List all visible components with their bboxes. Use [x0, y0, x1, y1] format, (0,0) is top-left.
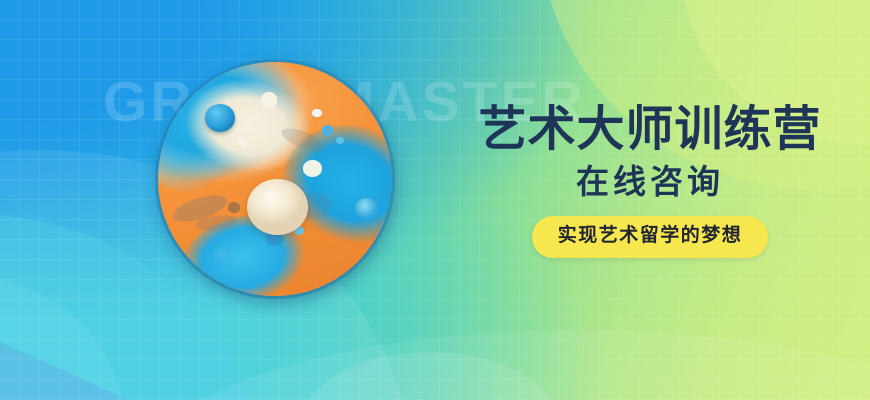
copy-block: 艺术大师训练营 在线咨询 实现艺术留学的梦想 [470, 104, 830, 258]
art-cell-5 [336, 137, 344, 144]
art-cell-13 [214, 249, 228, 261]
cta-button[interactable]: 实现艺术留学的梦想 [532, 216, 769, 258]
artwork-image [158, 62, 392, 296]
art-cell-12 [355, 198, 378, 219]
banner-subtitle: 在线咨询 [470, 164, 830, 200]
banner-title: 艺术大师训练营 [470, 104, 830, 156]
promo-banner: GRANDMASTER [0, 0, 870, 400]
art-cell-14 [238, 139, 247, 147]
artwork-circle [158, 62, 392, 296]
art-cell-2 [261, 92, 277, 107]
art-center-cream-blob [247, 179, 308, 235]
art-cell-11 [228, 202, 240, 212]
art-cell-6 [303, 160, 322, 176]
art-cell-3 [312, 109, 321, 117]
